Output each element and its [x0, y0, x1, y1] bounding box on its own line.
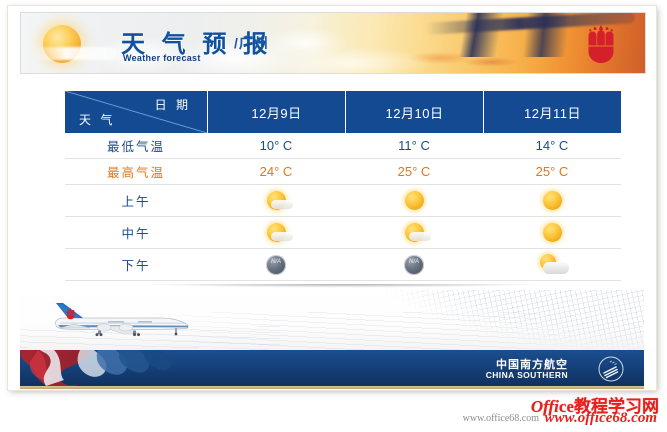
- lower-graphic-area: [20, 290, 644, 350]
- cell-max-temp-day1: 24° C: [207, 164, 345, 179]
- corner-date-label: 日 期: [155, 96, 191, 113]
- slide-frame: 天 气 预 报 /广州 Weather forecast: [8, 6, 656, 390]
- table-row: 最高气温 24° C 25° C 25° C: [65, 159, 621, 185]
- cell-min-temp-day2: 11° C: [345, 138, 483, 153]
- sun-icon: [535, 190, 569, 212]
- site-watermark: Office教程学习网 www.office68.com www.office6…: [473, 392, 659, 428]
- cell-noon-day2: [345, 222, 483, 244]
- row-label-min-temp: 最低气温: [65, 136, 207, 155]
- watermark-url: www.office68.com: [545, 410, 658, 427]
- slide-canvas: 天 气 预 报 /广州 Weather forecast: [0, 0, 667, 432]
- page-subtitle: Weather forecast: [123, 53, 201, 63]
- table-row: 下午 N/A N/A: [65, 249, 621, 281]
- cell-morning-day1: [207, 190, 345, 212]
- china-southern-wing-mark: [598, 356, 624, 382]
- table-row: 最低气温 10° C 11° C 14° C: [65, 133, 621, 159]
- cell-afternoon-day3: [483, 254, 621, 276]
- row-label-morning: 上午: [65, 191, 207, 210]
- china-southern-kapok-logo: [579, 22, 623, 66]
- footer-gold-rule: [20, 386, 644, 389]
- table-row: 上午: [65, 185, 621, 217]
- row-label-noon: 中午: [65, 223, 207, 242]
- footer-bar: 中国南方航空 CHINA SOUTHERN: [20, 350, 644, 386]
- sun-behind-cloud-icon: [397, 222, 431, 244]
- table-header-row: 日 期 天 气 12月9日 12月10日 12月11日: [65, 91, 621, 133]
- cell-noon-day3: [483, 222, 621, 244]
- image-placeholder-globe-icon: N/A: [265, 254, 287, 276]
- forecast-table: 日 期 天 气 12月9日 12月10日 12月11日 最低气温 10° C 1…: [65, 91, 621, 281]
- column-header-day3: 12月11日: [483, 91, 621, 133]
- corner-weather-label: 天 气: [79, 111, 115, 128]
- row-label-max-temp: 最高气温: [65, 162, 207, 181]
- cell-afternoon-day1: N/A: [207, 254, 345, 276]
- row-label-afternoon: 下午: [65, 255, 207, 274]
- china-southern-airliner: [38, 294, 198, 344]
- sun-cloud-wisp-icon: [33, 47, 117, 60]
- header-banner: 天 气 预 报 /广州 Weather forecast: [20, 12, 646, 74]
- cell-max-temp-day2: 25° C: [345, 164, 483, 179]
- sun-behind-cloud-icon: [259, 190, 293, 212]
- sun-behind-cloud-icon: [259, 222, 293, 244]
- cell-max-temp-day3: 25° C: [483, 164, 621, 179]
- city-label: /广州: [234, 33, 269, 53]
- table-corner-cell: 日 期 天 气: [65, 91, 207, 133]
- sun-icon: [535, 222, 569, 244]
- watermark-url-ghost: www.office68.com: [463, 413, 539, 424]
- sun-behind-cloud-large-icon: [535, 254, 569, 276]
- cell-min-temp-day1: 10° C: [207, 138, 345, 153]
- cell-morning-day2: [345, 190, 483, 212]
- column-header-day2: 12月10日: [345, 91, 483, 133]
- sun-icon: [397, 190, 431, 212]
- footer-brand-en: CHINA SOUTHERN: [486, 370, 568, 380]
- red-blue-swirl-decoration: [20, 350, 210, 386]
- image-placeholder-globe-icon: N/A: [403, 254, 425, 276]
- cell-noon-day1: [207, 222, 345, 244]
- table-row: 中午: [65, 217, 621, 249]
- cell-morning-day3: [483, 190, 621, 212]
- cell-afternoon-day2: N/A: [345, 254, 483, 276]
- column-header-day1: 12月9日: [207, 91, 345, 133]
- cell-min-temp-day3: 14° C: [483, 138, 621, 153]
